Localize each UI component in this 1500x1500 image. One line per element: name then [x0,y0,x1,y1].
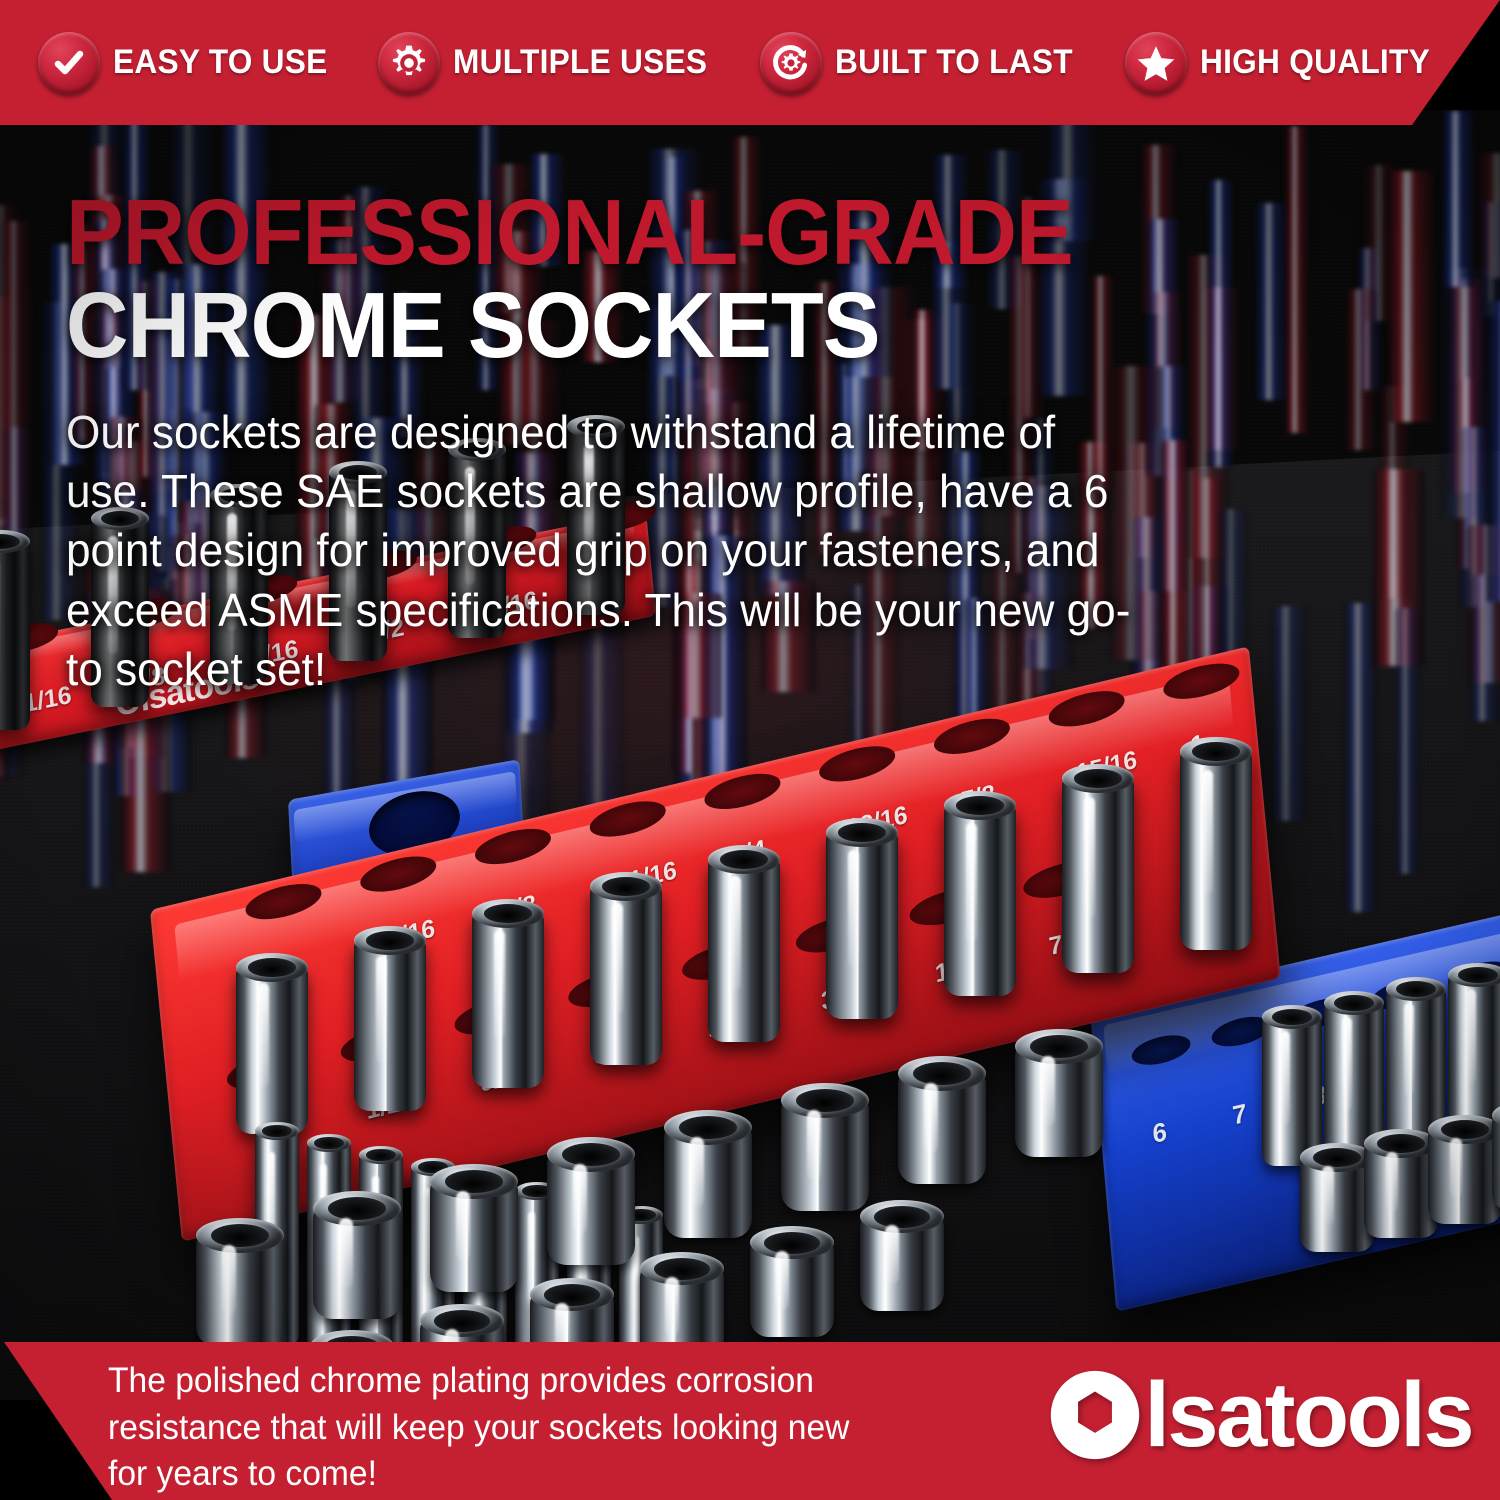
socket-highlight [690,1137,704,1206]
socket-highlight [966,823,978,942]
tray-size-label: 7 [1231,1097,1248,1131]
chrome-socket [1300,1156,1374,1252]
socket-highlight [1202,770,1214,894]
background-socket [1487,301,1500,602]
socket-bore [1396,981,1436,997]
socket-body [826,831,898,1019]
socket-bore [434,1310,489,1332]
brand-logo-text: lsatools [1144,1369,1472,1461]
gear-icon [378,32,440,94]
socket-body [354,939,426,1111]
chrome-socket [313,1207,401,1319]
socket-highlight [848,850,860,967]
chrome-socket [1428,1128,1500,1224]
chrome-socket [590,885,662,1065]
chrome-socket [781,1099,869,1211]
brand-logo: lsatools [1048,1368,1472,1462]
background-socket [1388,171,1434,423]
badge-label: EASY TO USE [113,43,328,82]
socket-highlight [376,956,388,1063]
socket-highlight [494,930,506,1039]
socket-body [1386,988,1446,1138]
socket-bore [262,1125,291,1136]
socket-highlight [1280,1031,1290,1124]
socket-bore [544,1284,599,1306]
socket-bore [1458,967,1498,983]
background-socket [1346,289,1376,450]
hero-text-block: PROFESSIONAL-GRADE CHROME SOCKETS Our so… [66,190,1246,699]
background-socket [1480,202,1500,315]
badge-multiple-uses: MULTIPLE USES [378,32,726,94]
background-socket [1442,111,1475,287]
socket-highlight [222,1245,236,1314]
socket-bore [1074,769,1122,788]
chrome-socket [1062,777,1134,973]
badge-high-quality: HIGH QUALITY [1125,32,1447,94]
socket-highlight [1404,1003,1414,1096]
badge-easy-to-use: EASY TO USE [38,32,344,94]
socket-bore [654,1258,709,1280]
socket-bore [1334,995,1374,1011]
socket-body [944,804,1016,996]
chrome-socket [196,1234,284,1346]
chrome-socket [1262,1016,1322,1166]
check-circle-icon [38,32,100,94]
hex-socket-o-icon [1048,1368,1142,1462]
socket-highlight [1041,1056,1055,1125]
chrome-socket [860,1215,944,1311]
badge-label: BUILT TO LAST [835,43,1073,82]
socket-highlight [730,876,742,990]
socket-bore [484,904,532,923]
badge-built-to-last: BUILT TO LAST [760,32,1091,94]
star-icon [1125,32,1187,94]
background-socket [1395,608,1420,874]
product-marketing-image: 11/165/89/161/27/16Olsatools115/167/813/… [0,0,1500,1500]
chrome-socket [547,1153,635,1265]
chrome-socket [750,1241,834,1337]
socket-body [1062,777,1134,973]
socket-body [236,966,308,1134]
chrome-socket [354,939,426,1111]
feature-badge-row: EASY TO USE MULTIPLE USES [0,0,1420,125]
socket-body [1324,1002,1384,1152]
socket-highlight [1466,989,1476,1082]
socket-bore [314,1137,343,1148]
chrome-socket [826,831,898,1019]
hero-body-copy: Our sockets are designed to withstand a … [66,403,1132,700]
chrome-socket [708,858,780,1042]
chrome-socket [472,912,544,1088]
socket-highlight [775,1251,788,1311]
socket-body [472,912,544,1088]
chrome-socket [944,804,1016,996]
socket-highlight [1322,1166,1334,1226]
page-title-line2: CHROME SOCKETS [66,280,1163,371]
socket-bore [1272,1009,1312,1025]
chrome-socket [898,1072,986,1184]
socket-bore [720,850,768,869]
socket-highlight [1386,1152,1398,1212]
chrome-socket [1180,750,1252,950]
chrome-socket [1386,988,1446,1138]
chrome-socket [1448,974,1500,1124]
socket-highlight [456,1191,470,1260]
badge-label: MULTIPLE USES [453,43,707,82]
background-socket [1285,126,1308,433]
socket-highlight [807,1110,821,1179]
socket-bore [874,1206,929,1228]
socket-highlight [1342,1017,1352,1110]
background-socket [1271,606,1307,821]
socket-bore [248,958,296,977]
socket-body [0,540,30,730]
socket-body [590,885,662,1065]
socket-bore [602,877,650,896]
socket-highlight [924,1083,938,1152]
socket-highlight [1084,797,1096,919]
chrome-socket [1364,1142,1438,1238]
gear-refresh-icon [760,32,822,94]
footer-copy: The polished chrome plating provides cor… [108,1358,895,1498]
chrome-socket [0,540,30,730]
socket-highlight [573,1164,587,1233]
socket-highlight [1450,1138,1462,1198]
socket-highlight [885,1225,898,1285]
socket-bore [956,796,1004,815]
socket-highlight [612,903,624,1015]
socket-body [1262,1016,1322,1166]
socket-body [1492,1114,1500,1210]
badge-label: HIGH QUALITY [1200,43,1430,82]
socket-bore [366,1149,395,1160]
socket-body [1180,750,1252,950]
chrome-socket [1324,1002,1384,1152]
socket-bore [366,931,414,950]
socket-highlight [665,1277,678,1337]
chrome-socket [1015,1045,1103,1157]
chrome-socket [430,1180,518,1292]
socket-bore [764,1232,819,1254]
chrome-socket [1492,1114,1500,1210]
socket-body [708,858,780,1042]
socket-highlight [339,1218,353,1287]
socket-bore [1192,742,1240,761]
chrome-socket [236,966,308,1134]
socket-highlight [258,983,270,1087]
background-socket [1255,203,1289,401]
chrome-socket [664,1126,752,1238]
tray-size-label: 6 [1151,1116,1168,1150]
page-title-line1: PROFESSIONAL-GRADE [66,190,1163,276]
socket-bore [838,823,886,842]
